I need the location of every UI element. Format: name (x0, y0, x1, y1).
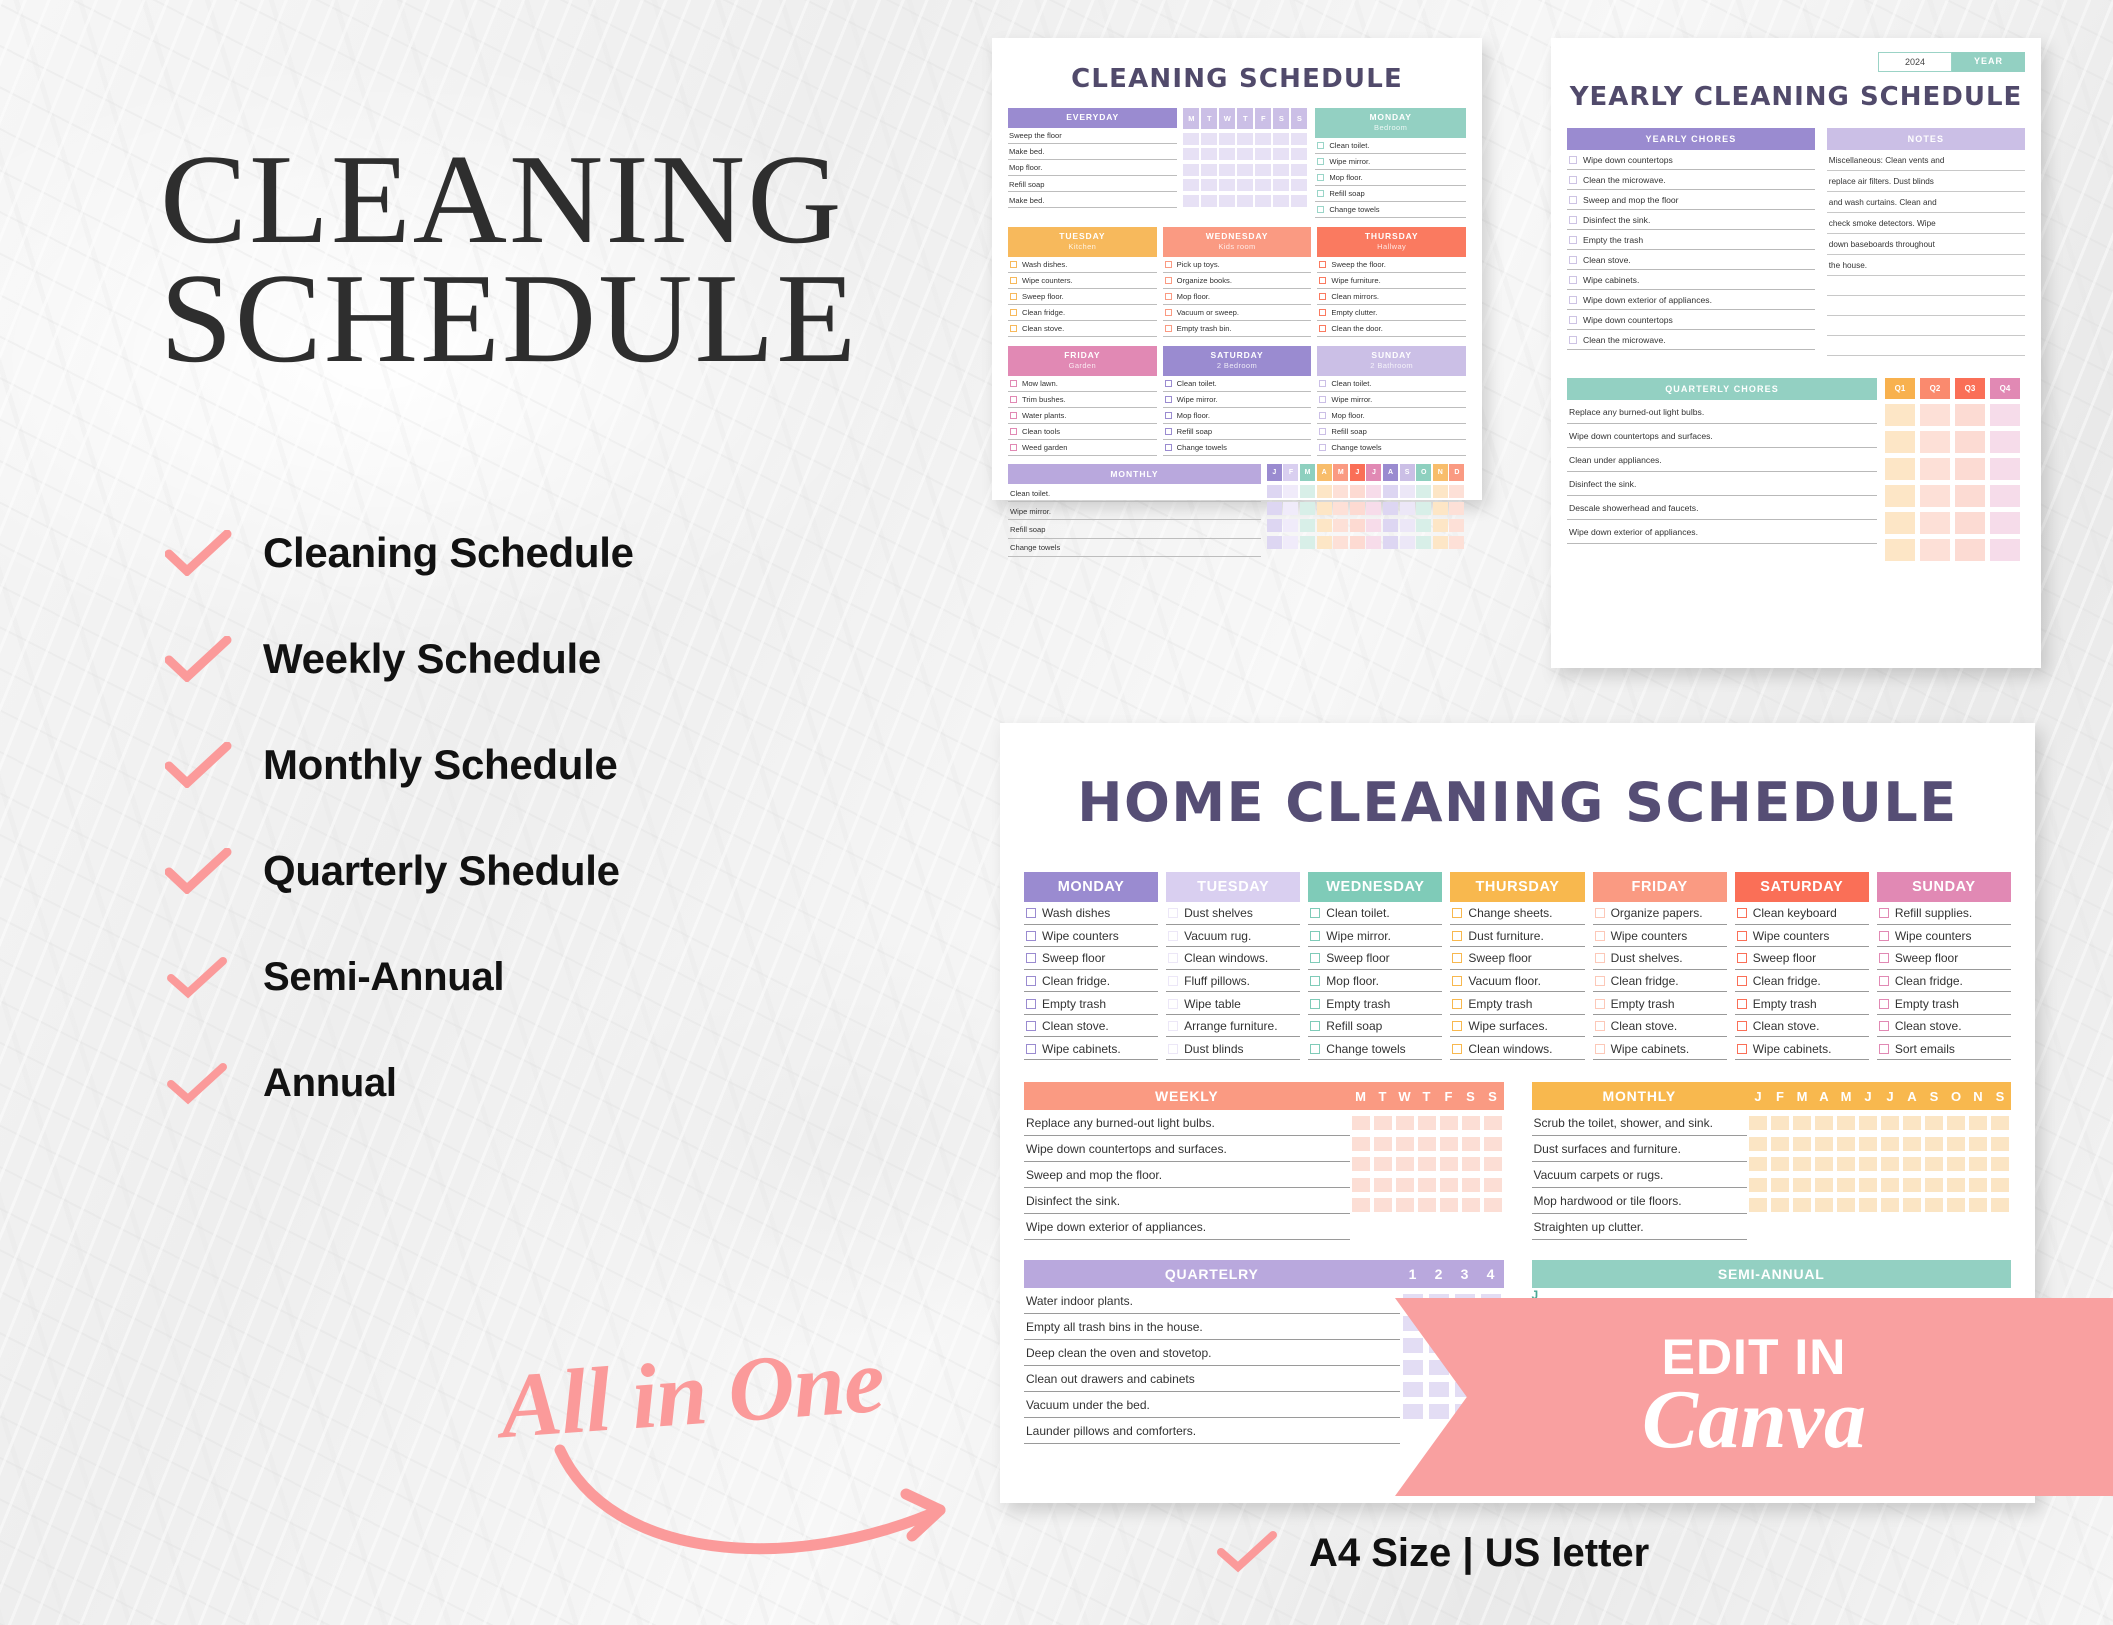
check-cell[interactable] (1255, 195, 1271, 207)
task-row[interactable]: Clean mirrors. (1317, 289, 1466, 305)
check-cell[interactable] (1273, 179, 1289, 191)
check-cell[interactable] (1383, 502, 1398, 515)
check-cell[interactable] (1885, 512, 1915, 534)
checkbox[interactable] (1595, 1044, 1605, 1054)
task-row[interactable]: Mow lawn. (1008, 376, 1157, 392)
checkbox[interactable] (1165, 380, 1172, 387)
check-cell[interactable] (1925, 1157, 1943, 1171)
checkbox[interactable] (1168, 953, 1178, 963)
task-row[interactable]: Empty the trash (1567, 230, 1815, 250)
year-input[interactable]: 2024 (1878, 52, 1952, 72)
checkbox[interactable] (1595, 1021, 1605, 1031)
check-cell[interactable] (1903, 1157, 1921, 1171)
checkbox[interactable] (1569, 216, 1577, 224)
checkbox[interactable] (1165, 396, 1172, 403)
check-cell[interactable] (1837, 1157, 1855, 1171)
check-cell[interactable] (1267, 536, 1282, 549)
monthly-month-grid[interactable]: JFMAMJJASOND (1267, 464, 1466, 557)
checkbox[interactable] (1595, 976, 1605, 986)
check-cell[interactable] (1815, 1178, 1833, 1192)
check-cell[interactable] (1374, 1116, 1392, 1130)
checkbox[interactable] (1569, 176, 1577, 184)
check-cell[interactable] (1350, 536, 1365, 549)
check-cell[interactable] (1366, 485, 1381, 498)
check-cell[interactable] (1990, 431, 2020, 453)
check-cell[interactable] (1947, 1116, 1965, 1130)
check-cell[interactable] (1300, 485, 1315, 498)
check-cell[interactable] (1317, 502, 1332, 515)
checkbox[interactable] (1879, 1044, 1889, 1054)
check-cell[interactable] (1903, 1198, 1921, 1212)
check-cell[interactable] (1267, 485, 1282, 498)
check-cell[interactable] (1484, 1178, 1502, 1192)
checkbox[interactable] (1010, 444, 1017, 451)
check-cell[interactable] (1273, 133, 1289, 145)
check-cell[interactable] (1201, 179, 1217, 191)
task-row[interactable]: Clean stove. (1735, 1015, 1869, 1038)
year-field-group[interactable]: 2024 YEAR (1567, 52, 2025, 72)
check-cell[interactable] (1352, 1157, 1370, 1171)
checkbox[interactable] (1026, 953, 1036, 963)
checkbox[interactable] (1879, 908, 1889, 918)
check-cell[interactable] (1352, 1178, 1370, 1192)
check-cell[interactable] (1396, 1178, 1414, 1192)
check-cell[interactable] (1219, 195, 1235, 207)
checkbox[interactable] (1737, 976, 1747, 986)
note-line[interactable]: down baseboards throughout (1827, 234, 2025, 255)
check-cell[interactable] (1969, 1157, 1987, 1171)
check-cell[interactable] (1255, 164, 1271, 176)
check-cell[interactable] (1403, 1360, 1423, 1375)
checkbox[interactable] (1310, 931, 1320, 941)
check-cell[interactable] (1449, 485, 1464, 498)
task-row[interactable]: Clean toilet. (1163, 376, 1312, 392)
check-cell[interactable] (1183, 179, 1199, 191)
check-cell[interactable] (1955, 431, 1985, 453)
checkbox[interactable] (1737, 953, 1747, 963)
check-cell[interactable] (1333, 536, 1348, 549)
check-cell[interactable] (1920, 458, 1950, 480)
task-row[interactable]: Clean the microwave. (1567, 330, 1815, 350)
check-cell[interactable] (1484, 1157, 1502, 1171)
check-cell[interactable] (1416, 502, 1431, 515)
task-row[interactable]: Wipe counters (1877, 925, 2011, 948)
note-line[interactable]: and wash curtains. Clean and (1827, 192, 2025, 213)
task-row[interactable]: Change towels (1008, 539, 1261, 557)
task-row[interactable]: Clean out drawers and cabinets (1024, 1366, 1400, 1392)
task-row[interactable]: Change towels (1163, 440, 1312, 456)
check-cell[interactable] (1991, 1157, 2009, 1171)
checkbox[interactable] (1595, 908, 1605, 918)
task-row[interactable]: Change sheets. (1450, 902, 1584, 925)
task-row[interactable]: Clean stove. (1877, 1015, 2011, 1038)
checkbox[interactable] (1452, 931, 1462, 941)
check-cell[interactable] (1771, 1116, 1789, 1130)
check-cell[interactable] (1885, 485, 1915, 507)
note-line[interactable] (1827, 276, 2025, 296)
task-row[interactable]: Disinfect the sink. (1024, 1188, 1350, 1214)
checkbox[interactable] (1879, 976, 1889, 986)
check-cell[interactable] (1237, 164, 1253, 176)
task-row[interactable]: Wipe counters (1735, 925, 1869, 948)
checkbox[interactable] (1010, 325, 1017, 332)
task-row[interactable]: Clean fridge. (1735, 970, 1869, 993)
check-cell[interactable] (1462, 1137, 1480, 1151)
check-cell[interactable] (1815, 1116, 1833, 1130)
check-cell[interactable] (1350, 502, 1365, 515)
edit-in-canva-ribbon[interactable]: EDIT IN Canva (1395, 1298, 2113, 1496)
check-cell[interactable] (1837, 1178, 1855, 1192)
task-row[interactable]: Wipe surfaces. (1450, 1015, 1584, 1038)
check-cell[interactable] (1449, 536, 1464, 549)
checkbox[interactable] (1310, 999, 1320, 1009)
check-cell[interactable] (1237, 133, 1253, 145)
task-row[interactable]: Refill soap (1317, 424, 1466, 440)
check-cell[interactable] (1333, 485, 1348, 498)
check-cell[interactable] (1749, 1178, 1767, 1192)
task-row[interactable]: Weed garden (1008, 440, 1157, 456)
check-cell[interactable] (1237, 179, 1253, 191)
check-cell[interactable] (1920, 431, 1950, 453)
check-cell[interactable] (1267, 519, 1282, 532)
task-row[interactable]: Make bed. (1008, 192, 1177, 208)
check-cell[interactable] (1183, 148, 1199, 160)
checkbox[interactable] (1317, 206, 1324, 213)
task-row[interactable]: Change towels (1317, 440, 1466, 456)
check-cell[interactable] (1440, 1178, 1458, 1192)
checkbox[interactable] (1319, 444, 1326, 451)
checkbox[interactable] (1452, 999, 1462, 1009)
checkbox[interactable] (1595, 953, 1605, 963)
task-row[interactable]: Wipe down exterior of appliances. (1567, 290, 1815, 310)
check-cell[interactable] (1771, 1178, 1789, 1192)
task-row[interactable]: Clean fridge. (1877, 970, 2011, 993)
check-cell[interactable] (1255, 133, 1271, 145)
task-row[interactable]: Water indoor plants. (1024, 1288, 1400, 1314)
task-row[interactable]: Wipe counters (1593, 925, 1727, 948)
task-row[interactable]: Empty trash (1024, 992, 1158, 1015)
task-row[interactable]: Change towels (1315, 202, 1466, 218)
task-row[interactable]: Clean tools (1008, 424, 1157, 440)
check-cell[interactable] (1955, 539, 1985, 561)
note-line[interactable]: the house. (1827, 255, 2025, 276)
task-row[interactable]: Empty trash (1735, 992, 1869, 1015)
check-cell[interactable] (1991, 1137, 2009, 1151)
check-cell[interactable] (1237, 148, 1253, 160)
check-cell[interactable] (1201, 133, 1217, 145)
check-cell[interactable] (1273, 195, 1289, 207)
checkbox[interactable] (1317, 174, 1324, 181)
task-row[interactable]: Scrub the toilet, shower, and sink. (1532, 1110, 1748, 1136)
task-row[interactable]: Descale showerhead and faucets. (1567, 496, 1877, 520)
check-cell[interactable] (1374, 1137, 1392, 1151)
checkbox[interactable] (1319, 261, 1326, 268)
check-cell[interactable] (1462, 1178, 1480, 1192)
checkbox[interactable] (1165, 293, 1172, 300)
checkbox[interactable] (1317, 190, 1324, 197)
check-cell[interactable] (1440, 1137, 1458, 1151)
check-cell[interactable] (1440, 1157, 1458, 1171)
checkbox[interactable] (1319, 309, 1326, 316)
task-row[interactable]: Change towels (1308, 1037, 1442, 1060)
check-cell[interactable] (1859, 1178, 1877, 1192)
checkbox[interactable] (1310, 1021, 1320, 1031)
checkbox[interactable] (1026, 976, 1036, 986)
checkbox[interactable] (1737, 931, 1747, 941)
check-cell[interactable] (1396, 1198, 1414, 1212)
checkbox[interactable] (1026, 1044, 1036, 1054)
check-cell[interactable] (1881, 1178, 1899, 1192)
task-row[interactable]: Wash dishes (1024, 902, 1158, 925)
check-cell[interactable] (1300, 502, 1315, 515)
task-row[interactable]: Wipe cabinets. (1567, 270, 1815, 290)
checkbox[interactable] (1569, 336, 1577, 344)
checkbox[interactable] (1168, 999, 1178, 1009)
check-cell[interactable] (1969, 1116, 1987, 1130)
check-cell[interactable] (1433, 502, 1448, 515)
check-cell[interactable] (1793, 1116, 1811, 1130)
task-row[interactable]: Clean stove. (1024, 1015, 1158, 1038)
task-row[interactable]: Pick up toys. (1163, 257, 1312, 273)
check-cell[interactable] (1219, 148, 1235, 160)
task-row[interactable]: Straighten up clutter. (1532, 1214, 1748, 1240)
check-cell[interactable] (1885, 431, 1915, 453)
check-cell[interactable] (1925, 1116, 1943, 1130)
check-cell[interactable] (1881, 1116, 1899, 1130)
task-row[interactable]: Refill supplies. (1877, 902, 2011, 925)
check-cell[interactable] (1793, 1178, 1811, 1192)
task-row[interactable]: Wipe mirror. (1308, 925, 1442, 948)
check-cell[interactable] (1462, 1157, 1480, 1171)
checkbox[interactable] (1569, 276, 1577, 284)
check-cell[interactable] (1885, 404, 1915, 426)
checkbox[interactable] (1319, 412, 1326, 419)
check-cell[interactable] (1383, 519, 1398, 532)
task-row[interactable]: Make bed. (1008, 144, 1177, 160)
check-cell[interactable] (1771, 1198, 1789, 1212)
checkbox[interactable] (1310, 953, 1320, 963)
task-row[interactable]: Clean fridge. (1593, 970, 1727, 993)
checkbox[interactable] (1026, 999, 1036, 1009)
checkbox[interactable] (1569, 156, 1577, 164)
checkbox[interactable] (1165, 261, 1172, 268)
task-row[interactable]: Mop hardwood or tile floors. (1532, 1188, 1748, 1214)
checkbox[interactable] (1879, 931, 1889, 941)
task-row[interactable]: Replace any burned-out light bulbs. (1567, 400, 1877, 424)
check-cell[interactable] (1881, 1137, 1899, 1151)
check-cell[interactable] (1859, 1198, 1877, 1212)
check-cell[interactable] (1990, 539, 2020, 561)
task-row[interactable]: Clean windows. (1450, 1037, 1584, 1060)
check-cell[interactable] (1947, 1157, 1965, 1171)
check-cell[interactable] (1449, 519, 1464, 532)
check-cell[interactable] (1352, 1198, 1370, 1212)
check-cell[interactable] (1366, 536, 1381, 549)
task-row[interactable]: Clean stove. (1567, 250, 1815, 270)
task-row[interactable]: Vacuum rug. (1166, 925, 1300, 948)
check-cell[interactable] (1749, 1157, 1767, 1171)
check-cell[interactable] (1283, 519, 1298, 532)
checkbox[interactable] (1010, 309, 1017, 316)
check-cell[interactable] (1903, 1178, 1921, 1192)
task-row[interactable]: Mop floor. (1308, 970, 1442, 993)
check-cell[interactable] (1815, 1137, 1833, 1151)
check-cell[interactable] (1374, 1178, 1392, 1192)
check-cell[interactable] (1991, 1198, 2009, 1212)
check-cell[interactable] (1366, 519, 1381, 532)
check-cell[interactable] (1859, 1137, 1877, 1151)
task-row[interactable]: Fluff pillows. (1166, 970, 1300, 993)
checkbox[interactable] (1168, 908, 1178, 918)
task-row[interactable]: Vacuum or sweep. (1163, 305, 1312, 321)
check-cell[interactable] (1418, 1116, 1436, 1130)
checkbox[interactable] (1010, 293, 1017, 300)
check-cell[interactable] (1429, 1382, 1449, 1397)
task-row[interactable]: Wipe counters. (1008, 273, 1157, 289)
check-cell[interactable] (1990, 404, 2020, 426)
task-row[interactable]: Wipe down countertops (1567, 150, 1815, 170)
checkbox[interactable] (1010, 261, 1017, 268)
check-cell[interactable] (1333, 519, 1348, 532)
yearly-cleaning-schedule-sheet[interactable]: 2024 YEAR YEARLY CLEANING SCHEDULE YEARL… (1551, 38, 2041, 668)
check-cell[interactable] (1418, 1178, 1436, 1192)
task-row[interactable]: Refill soap (1315, 186, 1466, 202)
checkbox[interactable] (1168, 1021, 1178, 1031)
check-cell[interactable] (1969, 1198, 1987, 1212)
task-row[interactable]: Wipe mirror. (1315, 154, 1466, 170)
task-row[interactable]: Dust surfaces and furniture. (1532, 1136, 1748, 1162)
task-row[interactable]: Dust shelves (1166, 902, 1300, 925)
check-cell[interactable] (1449, 502, 1464, 515)
checkbox[interactable] (1165, 309, 1172, 316)
check-cell[interactable] (1429, 1404, 1449, 1419)
check-cell[interactable] (1403, 1338, 1423, 1353)
check-cell[interactable] (1418, 1198, 1436, 1212)
check-cell[interactable] (1969, 1137, 1987, 1151)
checkbox[interactable] (1319, 325, 1326, 332)
check-cell[interactable] (1484, 1137, 1502, 1151)
task-row[interactable]: Wipe down exterior of appliances. (1567, 520, 1877, 544)
check-cell[interactable] (1925, 1198, 1943, 1212)
check-cell[interactable] (1291, 164, 1307, 176)
checkbox[interactable] (1737, 1021, 1747, 1031)
check-cell[interactable] (1793, 1198, 1811, 1212)
check-cell[interactable] (1201, 148, 1217, 160)
check-cell[interactable] (1920, 512, 1950, 534)
task-row[interactable]: Empty trash (1450, 992, 1584, 1015)
notes-lines[interactable]: Miscellaneous: Clean vents andreplace ai… (1827, 150, 2025, 356)
check-cell[interactable] (1433, 536, 1448, 549)
task-row[interactable]: Wipe table (1166, 992, 1300, 1015)
task-row[interactable]: Refill soap (1163, 424, 1312, 440)
task-row[interactable]: Vacuum floor. (1450, 970, 1584, 993)
check-cell[interactable] (1990, 512, 2020, 534)
task-row[interactable]: Sweep and mop the floor (1567, 190, 1815, 210)
task-row[interactable]: Clean toilet. (1308, 902, 1442, 925)
note-line[interactable]: replace air filters. Dust blinds (1827, 171, 2025, 192)
check-cell[interactable] (1484, 1116, 1502, 1130)
check-cell[interactable] (1955, 512, 1985, 534)
task-row[interactable]: Wipe cabinets. (1735, 1037, 1869, 1060)
checkbox[interactable] (1569, 316, 1577, 324)
checkbox[interactable] (1010, 277, 1017, 284)
task-row[interactable]: Wipe down countertops and surfaces. (1024, 1136, 1350, 1162)
task-row[interactable]: Sweep floor (1308, 947, 1442, 970)
check-cell[interactable] (1991, 1116, 2009, 1130)
task-row[interactable]: Sweep floor. (1008, 289, 1157, 305)
check-cell[interactable] (1396, 1157, 1414, 1171)
check-cell[interactable] (1237, 195, 1253, 207)
check-cell[interactable] (1418, 1137, 1436, 1151)
checkbox[interactable] (1317, 158, 1324, 165)
task-row[interactable]: Mop floor. (1163, 408, 1312, 424)
everyday-day-grid[interactable]: MTWTFSS (1183, 108, 1309, 218)
checkbox[interactable] (1569, 256, 1577, 264)
check-cell[interactable] (1183, 195, 1199, 207)
checkbox[interactable] (1310, 1044, 1320, 1054)
checkbox[interactable] (1168, 931, 1178, 941)
check-cell[interactable] (1400, 519, 1415, 532)
check-cell[interactable] (1300, 536, 1315, 549)
check-cell[interactable] (1283, 485, 1298, 498)
check-cell[interactable] (1317, 536, 1332, 549)
checkbox[interactable] (1595, 999, 1605, 1009)
checkbox[interactable] (1879, 999, 1889, 1009)
check-cell[interactable] (1219, 133, 1235, 145)
checkbox[interactable] (1569, 196, 1577, 204)
checkbox[interactable] (1737, 999, 1747, 1009)
checkbox[interactable] (1010, 396, 1017, 403)
cleaning-schedule-sheet[interactable]: CLEANING SCHEDULE EVERYDAY Sweep the flo… (992, 38, 1482, 500)
check-cell[interactable] (1440, 1116, 1458, 1130)
check-cell[interactable] (1291, 148, 1307, 160)
task-row[interactable]: Clean toilet. (1008, 484, 1261, 502)
task-row[interactable]: Sweep floor (1735, 947, 1869, 970)
check-cell[interactable] (1374, 1198, 1392, 1212)
check-cell[interactable] (1403, 1404, 1423, 1419)
task-row[interactable]: Wipe mirror. (1163, 392, 1312, 408)
task-row[interactable]: Wash dishes. (1008, 257, 1157, 273)
task-row[interactable]: Wipe down exterior of appliances. (1024, 1214, 1350, 1240)
check-cell[interactable] (1903, 1116, 1921, 1130)
check-cell[interactable] (1925, 1137, 1943, 1151)
check-cell[interactable] (1749, 1116, 1767, 1130)
task-row[interactable]: Refill soap (1008, 520, 1261, 538)
task-row[interactable]: Dust shelves. (1593, 947, 1727, 970)
checkbox[interactable] (1168, 976, 1178, 986)
checkbox[interactable] (1569, 236, 1577, 244)
check-cell[interactable] (1433, 519, 1448, 532)
task-row[interactable]: Wipe cabinets. (1593, 1037, 1727, 1060)
task-row[interactable]: Wipe mirror. (1317, 392, 1466, 408)
check-cell[interactable] (1183, 164, 1199, 176)
task-row[interactable]: Sort emails (1877, 1037, 2011, 1060)
check-cell[interactable] (1837, 1116, 1855, 1130)
task-row[interactable]: Sweep floor (1877, 947, 2011, 970)
checkbox[interactable] (1010, 380, 1017, 387)
task-row[interactable]: Disinfect the sink. (1567, 472, 1877, 496)
check-cell[interactable] (1418, 1157, 1436, 1171)
task-row[interactable]: Wipe down countertops (1567, 310, 1815, 330)
task-row[interactable]: Dust furniture. (1450, 925, 1584, 948)
task-row[interactable]: Wipe cabinets. (1024, 1037, 1158, 1060)
checkbox[interactable] (1319, 293, 1326, 300)
checkbox[interactable] (1452, 908, 1462, 918)
check-cell[interactable] (1440, 1198, 1458, 1212)
check-cell[interactable] (1352, 1116, 1370, 1130)
check-cell[interactable] (1350, 519, 1365, 532)
check-cell[interactable] (1793, 1137, 1811, 1151)
